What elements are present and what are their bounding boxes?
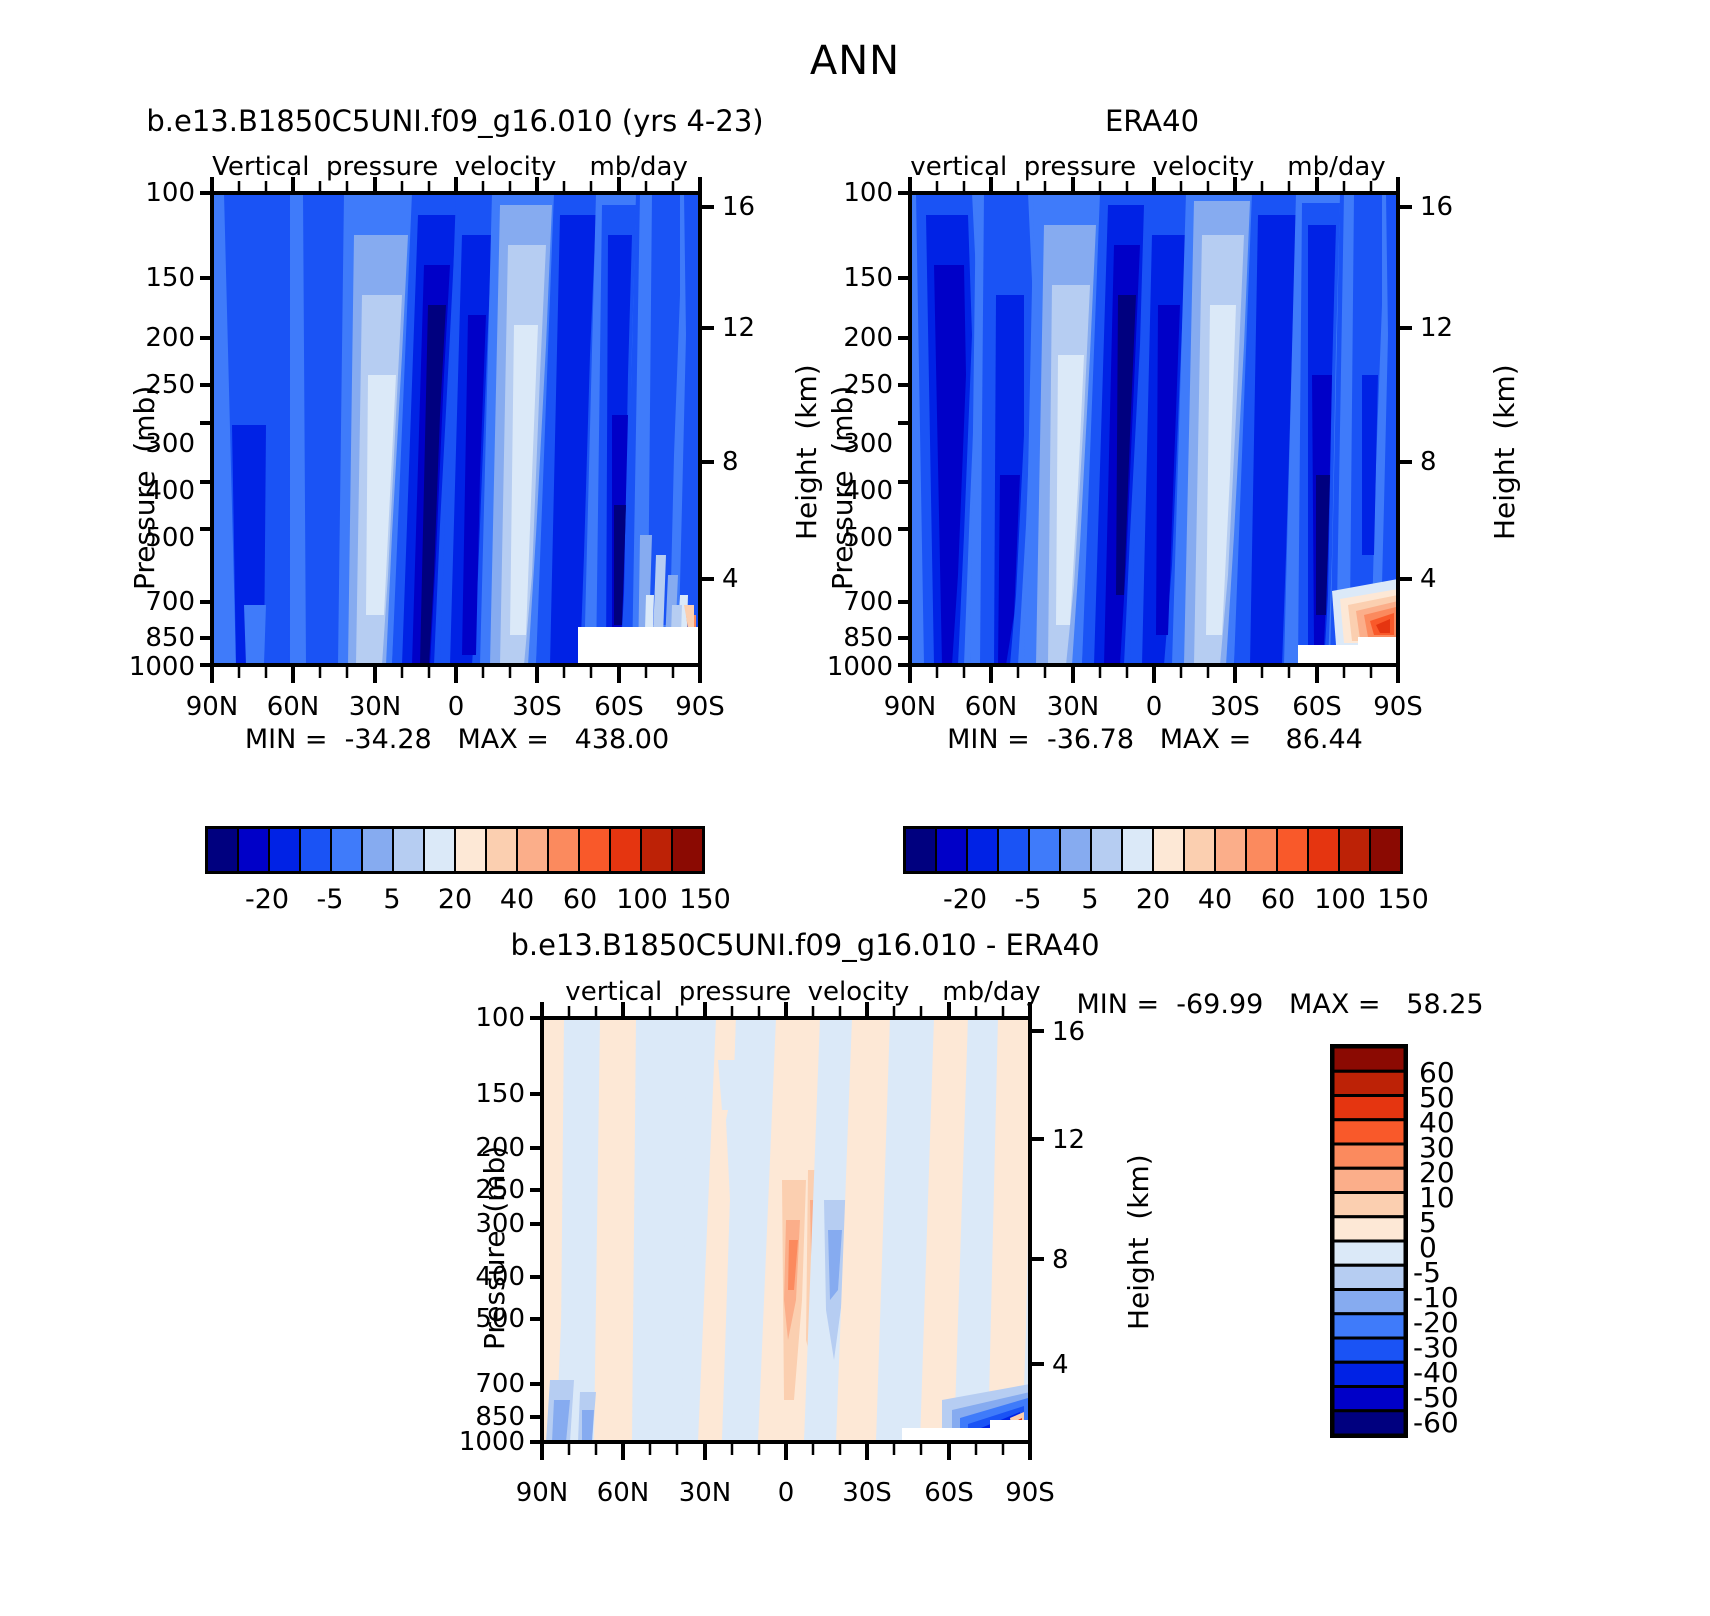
panel-obs-title: ERA40 <box>1105 104 1199 138</box>
model-ylabel-200: 200 <box>145 323 195 353</box>
obs-ylabel-700: 700 <box>843 587 893 617</box>
colorbar-swatch-orange[interactable] <box>1246 828 1277 872</box>
colorbar-swatch-very-pale-blue[interactable] <box>424 828 455 872</box>
colorbar-swatch-deep-navy[interactable] <box>207 828 238 872</box>
obs-xlabel-60S: 60S <box>1292 692 1342 722</box>
obs-y2label-12: 12 <box>1420 313 1453 343</box>
colorbar-swatch-orange[interactable] <box>548 828 579 872</box>
panel-model-plot <box>140 175 760 695</box>
colorbar-swatch-medium-blue[interactable] <box>331 828 362 872</box>
colorbar-swatch-dark-red[interactable] <box>1339 828 1370 872</box>
model-ylabel-150: 150 <box>145 263 195 293</box>
figure-suptitle: ANN <box>810 38 900 84</box>
panel-diff-title: b.e13.B1850C5UNI.f09_g16.010 - ERA40 <box>510 928 1099 962</box>
obs-cbtick-5: 60 <box>1261 884 1295 915</box>
obs-colorbar-swatches[interactable] <box>903 826 1403 874</box>
colorbar-swatch-light-orange[interactable] <box>517 828 548 872</box>
colorbar-swatch-light-orange[interactable] <box>1333 1168 1405 1192</box>
obs-ylabel-100: 100 <box>843 178 893 208</box>
colorbar-swatch-very-pale-blue[interactable] <box>1333 1241 1405 1265</box>
diff-xlabel-0: 0 <box>778 1478 795 1508</box>
diff-y2label-16: 16 <box>1052 1017 1085 1047</box>
model-cbtick-1: -5 <box>317 884 344 915</box>
diff-xlabel-90S: 90S <box>1005 1478 1055 1508</box>
diff-colorbar[interactable] <box>1330 1044 1408 1438</box>
colorbar-swatch-very-pale-orange[interactable] <box>455 828 486 872</box>
diff-y2label-8: 8 <box>1052 1245 1069 1275</box>
diff-ylabel-700: 700 <box>475 1369 525 1399</box>
colorbar-swatch-navy[interactable] <box>1333 1387 1405 1411</box>
model-xlabel-0: 0 <box>448 692 465 722</box>
diff-ylabel-100: 100 <box>475 1003 525 1033</box>
obs-cbtick-0: -20 <box>943 884 987 915</box>
colorbar-swatch-royal-blue[interactable] <box>300 828 331 872</box>
colorbar-swatch-red[interactable] <box>1333 1096 1405 1120</box>
colorbar-swatch-light-blue[interactable] <box>362 828 393 872</box>
model-cbtick-0: -20 <box>245 884 289 915</box>
obs-cbtick-4: 40 <box>1198 884 1232 915</box>
colorbar-swatch-red[interactable] <box>610 828 641 872</box>
colorbar-swatch-orange[interactable] <box>1333 1144 1405 1168</box>
diff-xlabel-90N: 90N <box>516 1478 569 1508</box>
colorbar-swatch-light-blue[interactable] <box>1333 1290 1405 1314</box>
colorbar-swatch-red-orange[interactable] <box>1333 1120 1405 1144</box>
colorbar-swatch-deep-dark-red[interactable] <box>1370 828 1401 872</box>
diff-stats: MIN = -69.99 MAX = 58.25 <box>1076 989 1483 1020</box>
diff-cbtick-m60: -60 <box>1413 1406 1459 1439</box>
diff-y2label-4: 4 <box>1052 1350 1069 1380</box>
model-xlabel-60N: 60N <box>267 692 320 722</box>
obs-cbtick-2: 5 <box>1081 884 1098 915</box>
colorbar-swatch-pale-orange[interactable] <box>1184 828 1215 872</box>
obs-ylabel-200: 200 <box>843 323 893 353</box>
colorbar-swatch-pale-blue[interactable] <box>393 828 424 872</box>
colorbar-swatch-royal-blue[interactable] <box>1333 1338 1405 1362</box>
colorbar-swatch-pale-orange[interactable] <box>486 828 517 872</box>
diff-colorbar-swatches[interactable] <box>1330 1044 1408 1438</box>
model-ylabel-100: 100 <box>145 178 195 208</box>
obs-colorbar[interactable] <box>903 826 1403 874</box>
model-y2label-4: 4 <box>722 564 739 594</box>
panel-diff-plot <box>490 1000 1110 1470</box>
model-pressure-axis-label: Pressure (mb) <box>128 386 161 590</box>
model-cbtick-2: 5 <box>383 884 400 915</box>
diff-height-axis-label: Height (km) <box>1122 1154 1155 1330</box>
model-cbtick-3: 20 <box>438 884 472 915</box>
colorbar-swatch-deep-navy[interactable] <box>1333 1411 1405 1435</box>
obs-cbtick-3: 20 <box>1136 884 1170 915</box>
model-y2label-16: 16 <box>722 192 755 222</box>
colorbar-swatch-very-pale-orange[interactable] <box>1153 828 1184 872</box>
obs-ylabel-1000: 1000 <box>827 652 893 682</box>
colorbar-swatch-navy[interactable] <box>936 828 967 872</box>
model-colorbar-swatches[interactable] <box>205 826 705 874</box>
colorbar-swatch-pale-blue[interactable] <box>1091 828 1122 872</box>
obs-cbtick-1: -5 <box>1015 884 1042 915</box>
model-cbtick-6: 100 <box>616 884 668 915</box>
colorbar-swatch-dark-red[interactable] <box>641 828 672 872</box>
obs-xlabel-90S: 90S <box>1373 692 1423 722</box>
model-y2label-12: 12 <box>722 313 755 343</box>
diff-xlabel-60S: 60S <box>924 1478 974 1508</box>
model-xlabel-90N: 90N <box>186 692 239 722</box>
model-cbtick-5: 60 <box>563 884 597 915</box>
colorbar-swatch-blue[interactable] <box>967 828 998 872</box>
colorbar-swatch-red-orange[interactable] <box>579 828 610 872</box>
obs-stats: MIN = -36.78 MAX = 86.44 <box>947 724 1363 755</box>
obs-cbtick-6: 100 <box>1314 884 1366 915</box>
figure-canvas: ANN b.e13.B1850C5UNI.f09_g16.010 (yrs 4-… <box>0 0 1710 1616</box>
model-cbtick-7: 150 <box>679 884 731 915</box>
diff-xlabel-60N: 60N <box>597 1478 650 1508</box>
obs-height-axis-label: Height (km) <box>1488 364 1521 540</box>
colorbar-swatch-dark-red[interactable] <box>1333 1071 1405 1095</box>
diff-y2label-12: 12 <box>1052 1125 1085 1155</box>
obs-pressure-axis-label: Pressure (mb) <box>826 386 859 590</box>
obs-cbtick-7: 150 <box>1377 884 1429 915</box>
model-xlabel-30S: 30S <box>512 692 562 722</box>
diff-ylabel-1000: 1000 <box>459 1427 525 1457</box>
colorbar-swatch-deep-dark-red[interactable] <box>1333 1047 1405 1071</box>
colorbar-swatch-medium-blue[interactable] <box>1029 828 1060 872</box>
colorbar-swatch-medium-blue[interactable] <box>1333 1314 1405 1338</box>
colorbar-swatch-deep-navy[interactable] <box>905 828 936 872</box>
obs-y2label-4: 4 <box>1420 564 1437 594</box>
model-xlabel-90S: 90S <box>675 692 725 722</box>
model-xlabel-60S: 60S <box>594 692 644 722</box>
model-height-axis-label: Height (km) <box>790 364 823 540</box>
obs-xlabel-30S: 30S <box>1210 692 1260 722</box>
panel-model-title: b.e13.B1850C5UNI.f09_g16.010 (yrs 4-23) <box>146 104 763 138</box>
model-ylabel-700: 700 <box>145 587 195 617</box>
diff-pressure-axis-label: Pressure (mb) <box>478 1146 511 1350</box>
colorbar-swatch-red-orange[interactable] <box>1277 828 1308 872</box>
obs-xlabel-90N: 90N <box>884 692 937 722</box>
colorbar-swatch-light-orange[interactable] <box>1215 828 1246 872</box>
panel-obs-plot <box>838 175 1458 695</box>
colorbar-swatch-pale-blue[interactable] <box>1333 1265 1405 1289</box>
colorbar-swatch-navy[interactable] <box>238 828 269 872</box>
colorbar-swatch-very-pale-blue[interactable] <box>1122 828 1153 872</box>
diff-ylabel-150: 150 <box>475 1079 525 1109</box>
obs-ylabel-150: 150 <box>843 263 893 293</box>
obs-xlabel-30N: 30N <box>1047 692 1100 722</box>
model-stats: MIN = -34.28 MAX = 438.00 <box>245 724 669 755</box>
colorbar-swatch-blue[interactable] <box>1333 1362 1405 1386</box>
colorbar-swatch-very-pale-orange[interactable] <box>1333 1217 1405 1241</box>
model-colorbar[interactable] <box>205 826 705 874</box>
obs-xlabel-0: 0 <box>1146 692 1163 722</box>
obs-y2label-8: 8 <box>1420 447 1437 477</box>
model-xlabel-30N: 30N <box>349 692 402 722</box>
colorbar-swatch-pale-orange[interactable] <box>1333 1193 1405 1217</box>
colorbar-swatch-royal-blue[interactable] <box>998 828 1029 872</box>
colorbar-swatch-red[interactable] <box>1308 828 1339 872</box>
model-y2label-8: 8 <box>722 447 739 477</box>
diff-xlabel-30S: 30S <box>842 1478 892 1508</box>
model-ylabel-1000: 1000 <box>129 652 195 682</box>
obs-xlabel-60N: 60N <box>965 692 1018 722</box>
diff-xlabel-30N: 30N <box>679 1478 732 1508</box>
obs-y2label-16: 16 <box>1420 192 1453 222</box>
colorbar-swatch-deep-dark-red[interactable] <box>672 828 703 872</box>
obs-ylabel-850: 850 <box>843 623 893 653</box>
colorbar-swatch-light-blue[interactable] <box>1060 828 1091 872</box>
colorbar-swatch-blue[interactable] <box>269 828 300 872</box>
model-ylabel-850: 850 <box>145 623 195 653</box>
model-cbtick-4: 40 <box>500 884 534 915</box>
